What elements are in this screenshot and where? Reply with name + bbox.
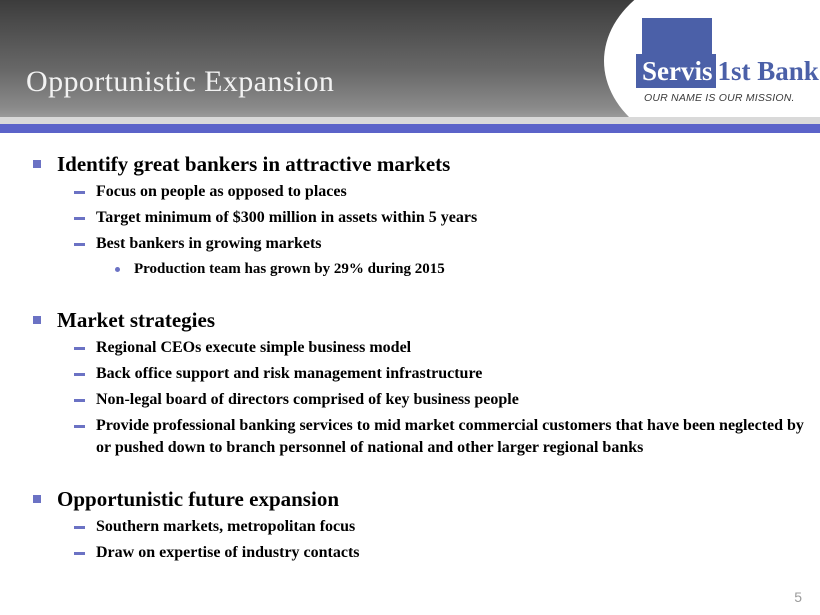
dash-bullet-icon xyxy=(74,552,85,555)
bullet-level2: Southern markets, metropolitan focus xyxy=(0,516,820,538)
slide-body-content: Identify great bankers in attractive mar… xyxy=(0,142,820,564)
bullet-level2-label: Non-legal board of directors comprised o… xyxy=(72,389,519,411)
bullet-level1-label: Opportunistic future expansion xyxy=(32,486,339,512)
slide: Opportunistic Expansion Servis1st Bank O… xyxy=(0,0,820,615)
bullet-level2: Target minimum of $300 million in assets… xyxy=(0,207,820,229)
brand-logo: Servis1st Bank OUR NAME IS OUR MISSION. xyxy=(636,18,816,110)
square-bullet-icon xyxy=(33,316,41,324)
page-title: Opportunistic Expansion xyxy=(26,65,334,99)
square-bullet-icon xyxy=(33,495,41,503)
bullet-level2: Draw on expertise of industry contacts xyxy=(0,542,820,564)
dash-bullet-icon xyxy=(74,347,85,350)
bullet-level2-label: Target minimum of $300 million in assets… xyxy=(72,207,477,229)
dash-bullet-icon xyxy=(74,217,85,220)
logo-servis-text: Servis xyxy=(636,54,716,88)
bullet-level2: Provide professional banking services to… xyxy=(0,415,820,459)
bullet-group-spacer xyxy=(0,459,820,477)
bullet-level2: Best bankers in growing markets xyxy=(0,233,820,255)
bullet-level2-label: Regional CEOs execute simple business mo… xyxy=(72,337,411,359)
divider-blue-strip xyxy=(0,124,820,133)
logo-1st-bank-text: 1st Bank xyxy=(716,54,819,88)
dash-bullet-icon xyxy=(74,373,85,376)
bullet-level1: Opportunistic future expansion xyxy=(0,486,820,512)
bullet-level2: Focus on people as opposed to places xyxy=(0,181,820,203)
bullet-level3-label: Production team has grown by 29% during … xyxy=(112,259,445,280)
page-number: 5 xyxy=(794,589,802,605)
bullet-level1: Identify great bankers in attractive mar… xyxy=(0,151,820,177)
bullet-group-spacer xyxy=(0,280,820,298)
logo-wordmark: Servis1st Bank xyxy=(636,54,816,88)
dash-bullet-icon xyxy=(74,243,85,246)
logo-tagline: OUR NAME IS OUR MISSION. xyxy=(644,92,795,104)
bullet-level3: Production team has grown by 29% during … xyxy=(0,259,820,280)
bullet-level2: Non-legal board of directors comprised o… xyxy=(0,389,820,411)
bullet-level2: Regional CEOs execute simple business mo… xyxy=(0,337,820,359)
square-bullet-icon xyxy=(33,160,41,168)
dash-bullet-icon xyxy=(74,526,85,529)
dash-bullet-icon xyxy=(74,425,85,428)
bullet-level2-label: Draw on expertise of industry contacts xyxy=(72,542,360,564)
dot-bullet-icon xyxy=(115,267,120,272)
bullet-level2-label: Focus on people as opposed to places xyxy=(72,181,347,203)
bullet-level2-label: Provide professional banking services to… xyxy=(72,415,820,459)
bullet-level2-label: Back office support and risk management … xyxy=(72,363,482,385)
bullet-level2: Back office support and risk management … xyxy=(0,363,820,385)
dash-bullet-icon xyxy=(74,191,85,194)
bullet-level1: Market strategies xyxy=(0,307,820,333)
bullet-level2-label: Best bankers in growing markets xyxy=(72,233,322,255)
bullet-level2-label: Southern markets, metropolitan focus xyxy=(72,516,355,538)
bullet-level1-label: Market strategies xyxy=(32,307,215,333)
dash-bullet-icon xyxy=(74,399,85,402)
divider-white-strip xyxy=(0,133,820,138)
divider-gray-strip xyxy=(0,117,820,124)
bullet-level1-label: Identify great bankers in attractive mar… xyxy=(32,151,450,177)
